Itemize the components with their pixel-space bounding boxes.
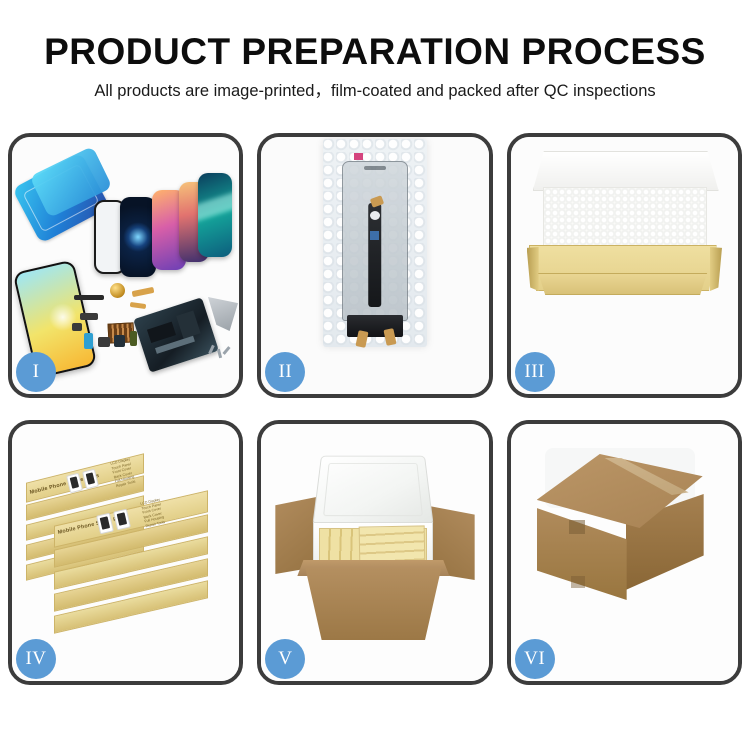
step-badge-4: IV [16,639,56,679]
page-root: PRODUCT PREPARATION PROCESS All products… [0,0,750,750]
small-part-4 [130,331,137,346]
process-step-1: I [8,133,243,398]
blue-component [370,231,379,240]
box-front-wall [535,273,711,295]
box-right-wall [710,247,722,291]
small-part-5 [80,313,98,320]
process-step-2: II [257,133,492,398]
styrofoam-lid [313,456,434,526]
small-part-2 [98,337,110,347]
small-part-3 [114,335,125,347]
blue-wallpaper-phone [120,197,156,277]
gold-contact-2 [356,330,369,348]
carton-tab-upper [569,520,585,534]
flex-cable-part-2 [130,302,147,309]
process-step-3: III [507,133,742,398]
page-header: PRODUCT PREPARATION PROCESS All products… [0,0,750,101]
process-step-4: Mobile Phone Spare Parts Mobile Phone Sp… [8,420,243,685]
box-left-wall [527,247,539,291]
bubble-wrap-sleeve [323,139,427,347]
page-subtitle: All products are image-printed，film-coat… [0,81,750,101]
process-grid: I II [8,133,742,685]
process-step-5: V [257,420,492,685]
step-badge-1: I [16,352,56,392]
gold-speaker-part [110,283,125,298]
step-badge-6: VI [515,639,555,679]
earpiece-bar-part [74,295,104,300]
step-badge-3: III [515,352,555,392]
tweezers-tool [208,297,238,331]
carton-body [305,568,441,640]
carton-tab-lower [571,576,585,588]
small-part-1 [84,333,93,349]
screws-group [208,345,232,363]
teal-gradient-phone [198,173,232,257]
page-title: PRODUCT PREPARATION PROCESS [0,30,750,74]
flex-cable-part-1 [132,287,155,297]
motherboard-part [133,297,219,373]
box-lid-back [533,151,719,191]
pink-qc-sticker [354,153,363,160]
white-component [370,211,380,220]
small-part-6 [72,323,82,331]
foam-sheet [543,187,707,253]
process-step-6: VI [507,420,742,685]
